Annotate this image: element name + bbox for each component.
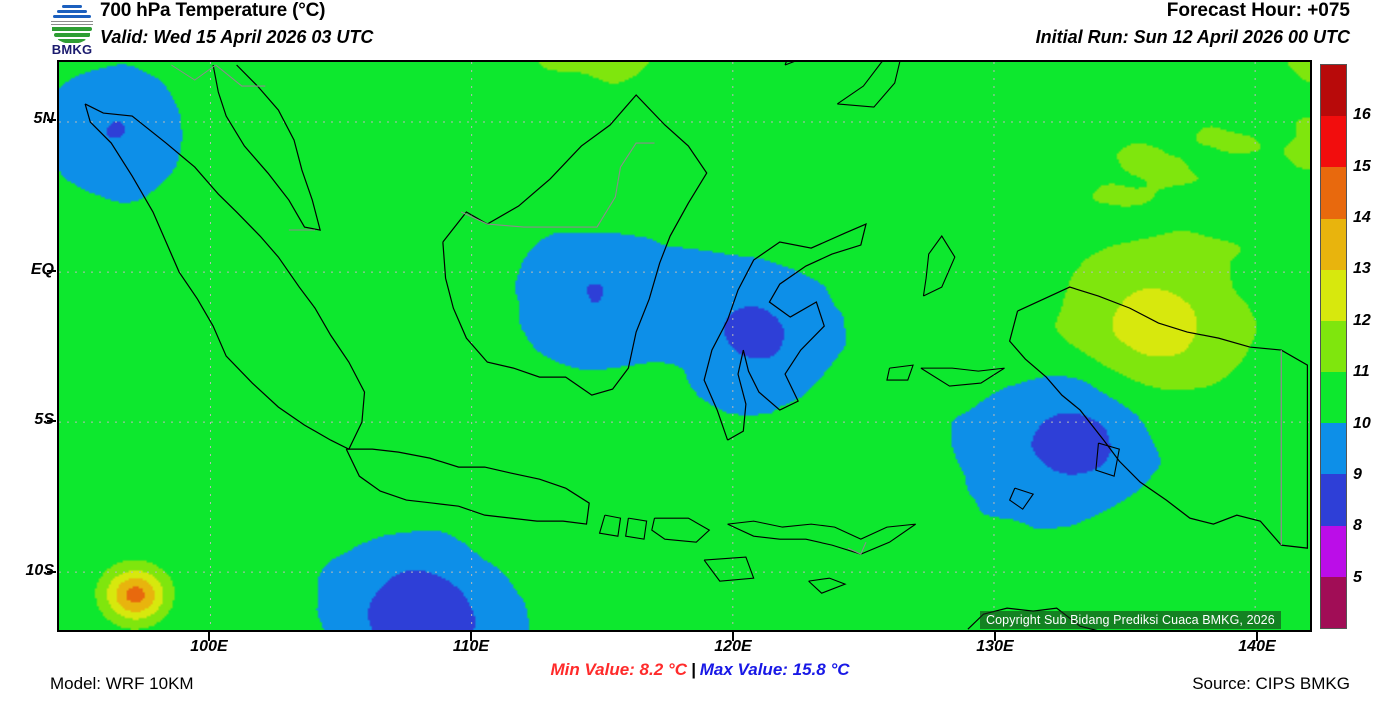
coastline-sulawesi	[704, 224, 866, 440]
border-thailand	[171, 65, 215, 80]
colorbar-segment-0	[1321, 65, 1346, 116]
forecast-hour: Forecast Hour: +075	[1167, 0, 1350, 22]
colorbar-segment-10	[1321, 577, 1346, 628]
coastline-lesser-sunda-5	[809, 578, 845, 593]
initial-run: Initial Run: Sun 12 April 2026 00 UTC	[1036, 27, 1350, 48]
coastline-java	[346, 449, 589, 524]
header: BMKG 700 hPa Temperature (°C) Valid: Wed…	[0, 0, 1400, 58]
border-timor	[848, 542, 866, 554]
max-value-label: Max Value: 15.8 °C	[700, 660, 850, 679]
bmkg-logo-icon: BMKG	[43, 2, 101, 56]
coastline-maluku-0	[923, 236, 954, 296]
colorbar-segment-1	[1321, 116, 1346, 167]
border-malaysia-indonesia	[461, 143, 654, 227]
bmkg-logo-label: BMKG	[43, 42, 101, 57]
colorbar-segment-5	[1321, 321, 1346, 372]
latitude-tick-5s	[47, 420, 56, 422]
temperature-map[interactable]: Copyright Sub Bidang Prediksi Cuaca BMKG…	[57, 60, 1312, 632]
coastline-maluku-2	[887, 365, 913, 380]
colorbar-segment-4	[1321, 270, 1346, 321]
coastline-papua	[1010, 287, 1308, 548]
minmax-separator: |	[687, 660, 700, 679]
colorbar-segment-7	[1321, 423, 1346, 474]
latitude-tick-5n	[47, 119, 56, 121]
min-value-label: Min Value: 8.2 °C	[550, 660, 687, 679]
longitude-tick-140e	[1256, 632, 1258, 641]
page-title: 700 hPa Temperature (°C)	[100, 0, 325, 22]
coastline-maluku-3	[1096, 443, 1119, 476]
colorbar-segment-2	[1321, 167, 1346, 218]
coastline-sumatra	[85, 104, 364, 449]
longitude-tick-110e	[470, 632, 472, 641]
coastline-lesser-sunda-2	[652, 518, 710, 542]
colorbar-tick-12: 12	[1353, 312, 1371, 330]
longitude-tick-120e	[732, 632, 734, 641]
colorbar-labels: 16151413121110985	[1353, 64, 1399, 629]
latitude-tick-eq	[47, 270, 56, 272]
colorbar-tick-8: 8	[1353, 517, 1362, 535]
coastline-lesser-sunda-1	[626, 518, 647, 539]
coastline-lesser-sunda-4	[704, 557, 754, 581]
colorbar-tick-10: 10	[1353, 415, 1371, 433]
colorbar-tick-9: 9	[1353, 466, 1362, 484]
latitude-tick-10s	[47, 571, 56, 573]
map-overlay	[59, 62, 1310, 632]
coastline-philippines-1	[837, 62, 902, 107]
source-label: Source: CIPS BMKG	[1192, 674, 1350, 694]
coastline-maluku-4	[1010, 488, 1034, 509]
coastline-philippines-2	[785, 62, 842, 65]
coastline-kalimantan	[443, 95, 707, 395]
coastline-maluku-1	[921, 368, 1005, 386]
bmkg-logo-disc	[49, 2, 95, 44]
colorbar-segment-8	[1321, 474, 1346, 525]
minmax-readout: Min Value: 8.2 °C|Max Value: 15.8 °C	[0, 660, 1400, 680]
copyright-watermark: Copyright Sub Bidang Prediksi Cuaca BMKG…	[980, 611, 1281, 629]
colorbar-segment-9	[1321, 526, 1346, 577]
model-label: Model: WRF 10KM	[50, 674, 194, 694]
colorbar	[1320, 64, 1347, 629]
colorbar-tick-11: 11	[1353, 363, 1370, 381]
colorbar-segment-6	[1321, 372, 1346, 423]
longitude-tick-100e	[208, 632, 210, 641]
valid-time: Valid: Wed 15 April 2026 03 UTC	[100, 27, 373, 48]
colorbar-tick-5: 5	[1353, 569, 1362, 587]
coastline-lesser-sunda-0	[600, 515, 621, 536]
colorbar-tick-16: 16	[1353, 106, 1371, 124]
colorbar-tick-15: 15	[1353, 158, 1371, 176]
colorbar-segment-3	[1321, 219, 1346, 270]
coastline-lesser-sunda-3	[728, 521, 916, 554]
longitude-tick-130e	[994, 632, 996, 641]
colorbar-tick-14: 14	[1353, 209, 1371, 227]
colorbar-tick-13: 13	[1353, 260, 1371, 278]
